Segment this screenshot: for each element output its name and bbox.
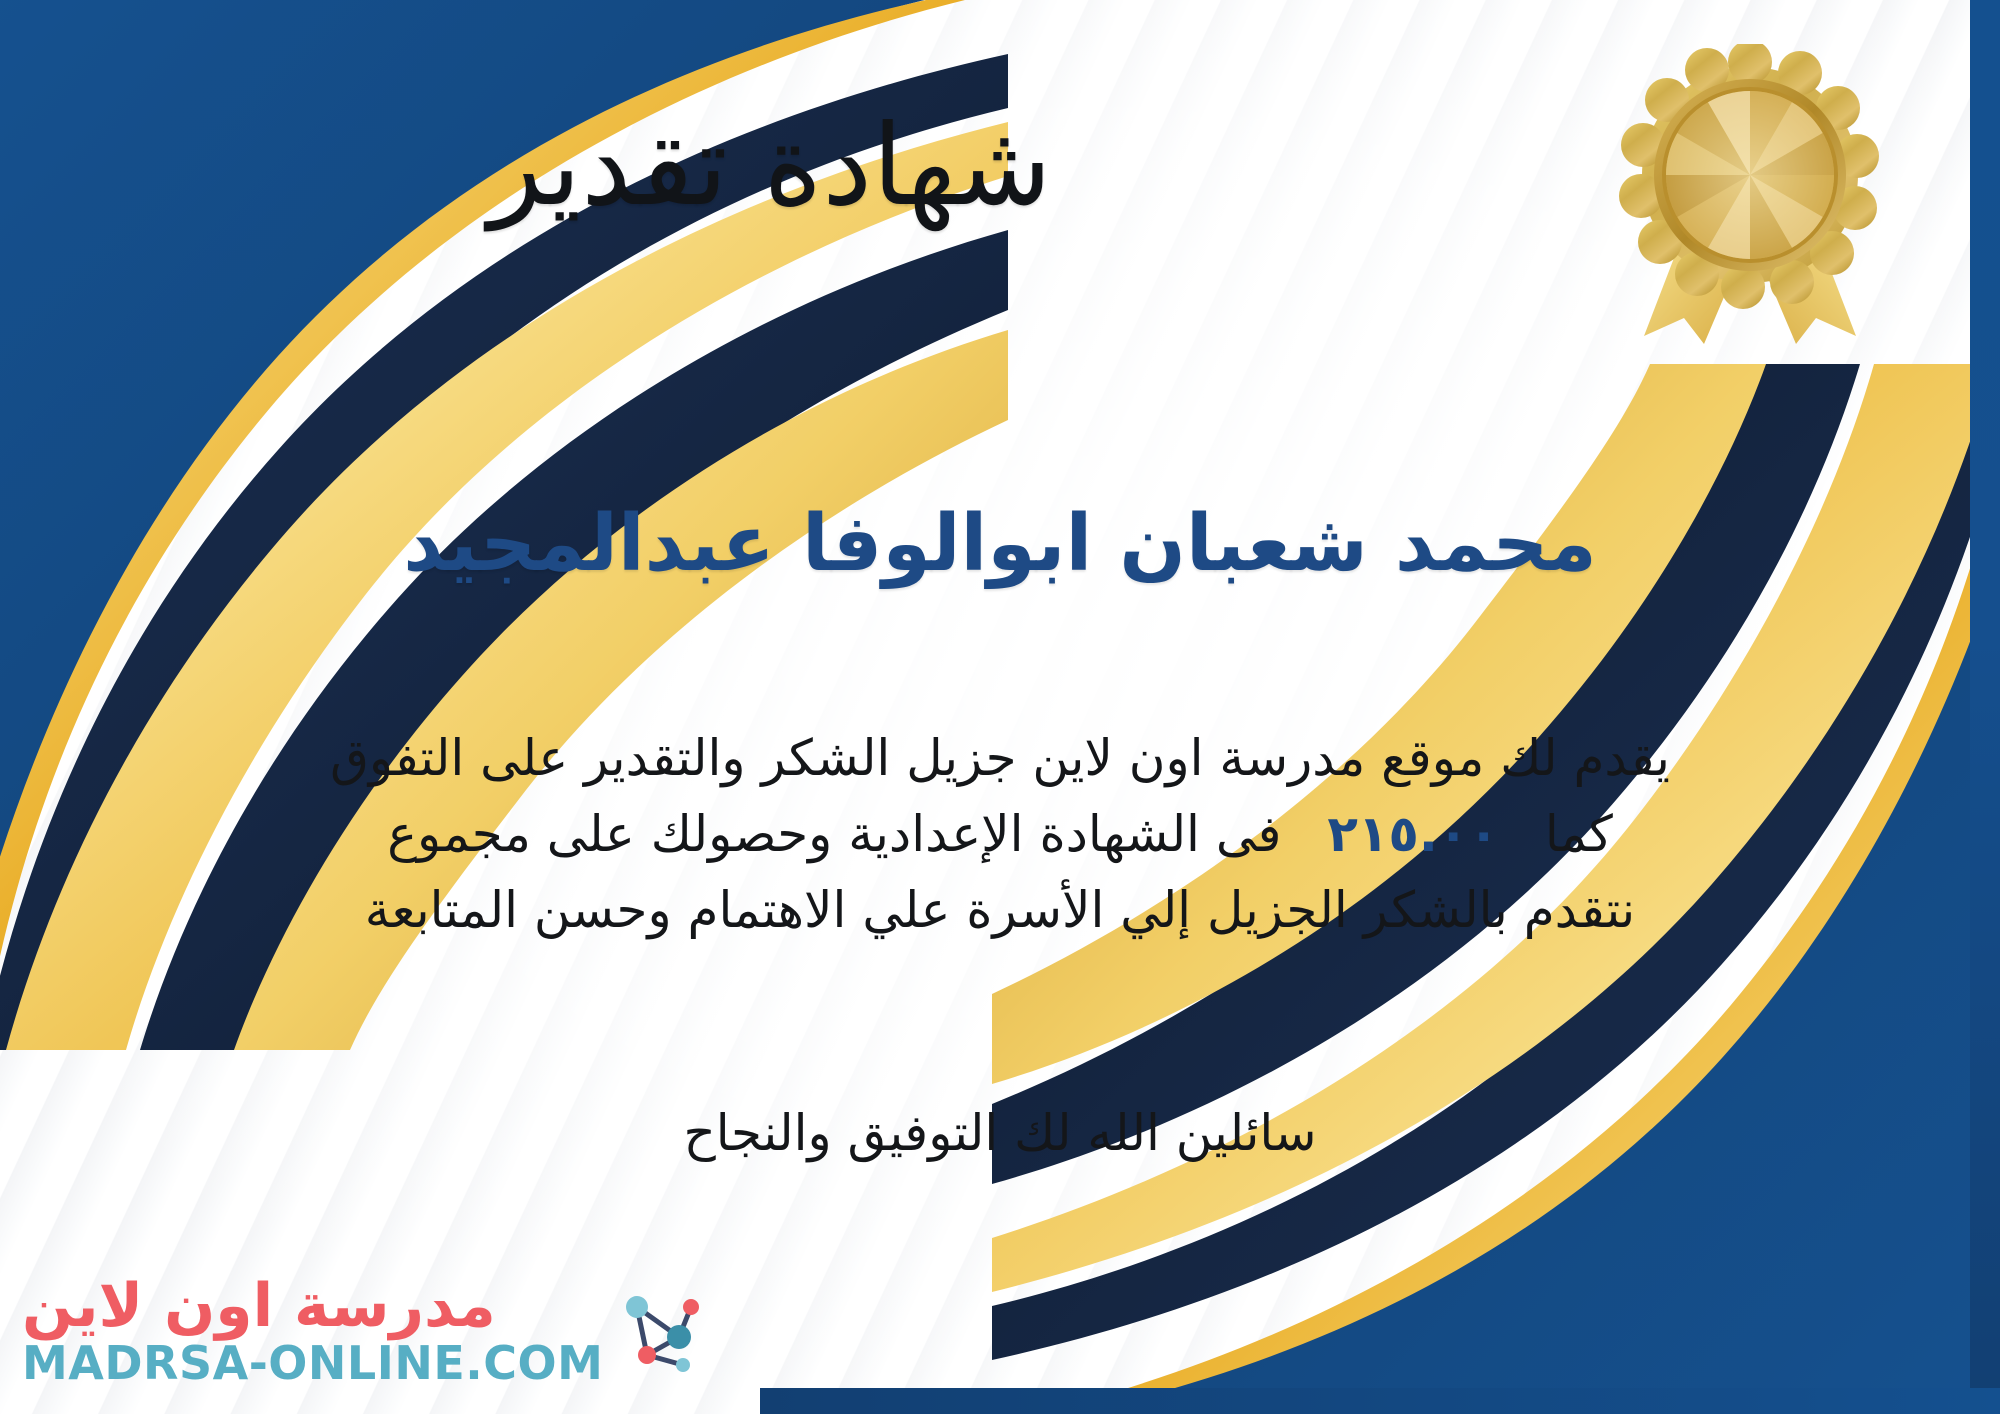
brand-logo-text: مدرسة اون لاين MADRSA-ONLINE.COM [22,1276,603,1386]
brand-name-arabic: مدرسة اون لاين [22,1276,496,1336]
body-line-2-suffix: فى الشهادة الإعدادية وحصولك على مجموع [387,805,1281,863]
body-line-2-prefix: كما [1545,805,1613,863]
certificate-title: شهادة تقدير [60,108,1480,226]
brand-website: MADRSA-ONLINE.COM [22,1340,603,1386]
right-blue-edge-band [1970,0,2000,1414]
body-line-2: كما ٢١٥.٠٠ فى الشهادة الإعدادية وحصولك ع… [80,796,1920,872]
brand-logo[interactable]: مدرسة اون لاين MADRSA-ONLINE.COM [22,1276,709,1386]
closing-wish: سائلين الله لك التوفيق والنجاح [80,1098,1920,1168]
total-score-value: ٢١٥.٠٠ [1297,805,1529,863]
certificate-canvas: شهادة تقدير محمد شعبان ابوالوفا عبدالمجي… [0,0,2000,1414]
body-line-3: نتقدم بالشكر الجزيل إلي الأسرة علي الاهت… [80,872,1920,948]
body-line-1: يقدم لك موقع مدرسة اون لاين جزيل الشكر و… [80,720,1920,796]
certificate-content: شهادة تقدير محمد شعبان ابوالوفا عبدالمجي… [60,0,1940,1414]
student-name: محمد شعبان ابوالوفا عبدالمجيد [150,500,1850,590]
certificate-body: يقدم لك موقع مدرسة اون لاين جزيل الشكر و… [80,720,1920,948]
network-nodes-icon [617,1285,709,1377]
